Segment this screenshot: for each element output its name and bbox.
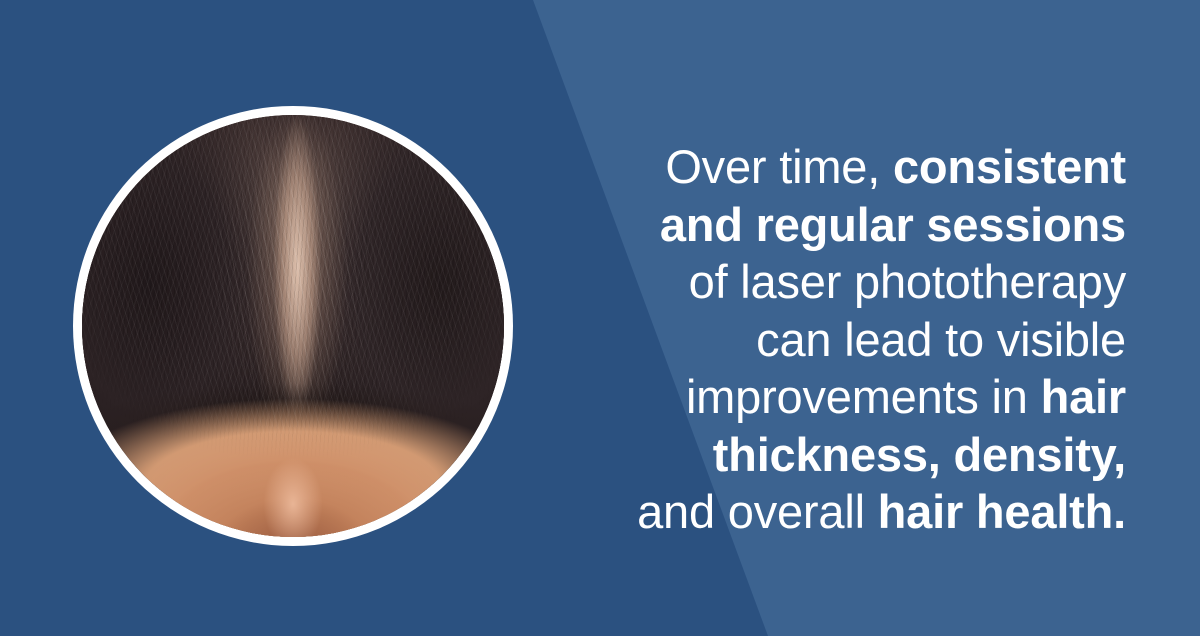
headline-plain: Over time, xyxy=(665,140,893,193)
face-shading xyxy=(82,427,504,537)
scalp-photo-image xyxy=(82,115,504,537)
headline-emphasis: consistent xyxy=(893,140,1126,193)
headline-line-0: Over time, consistent xyxy=(556,138,1126,196)
headline-emphasis: hair health. xyxy=(878,485,1126,538)
headline-text: Over time, consistentand regular session… xyxy=(556,138,1126,541)
headline-emphasis: and regular sessions xyxy=(660,198,1126,251)
headline-plain: improvements in xyxy=(686,370,1041,423)
headline-plain: and overall xyxy=(637,485,878,538)
headline-line-2: of laser phototherapy xyxy=(556,253,1126,311)
headline-line-1: and regular sessions xyxy=(556,196,1126,254)
headline-emphasis: thickness, density, xyxy=(713,428,1126,481)
scalp-photo-circle xyxy=(73,106,513,546)
headline-emphasis: hair xyxy=(1041,370,1126,423)
headline-line-4: improvements in hair xyxy=(556,368,1126,426)
headline-plain: of laser phototherapy xyxy=(689,255,1126,308)
headline-line-6: and overall hair health. xyxy=(556,483,1126,541)
headline-line-3: can lead to visible xyxy=(556,311,1126,369)
headline-plain: can lead to visible xyxy=(756,313,1126,366)
headline-line-5: thickness, density, xyxy=(556,426,1126,484)
promo-banner: Over time, consistentand regular session… xyxy=(0,0,1200,636)
